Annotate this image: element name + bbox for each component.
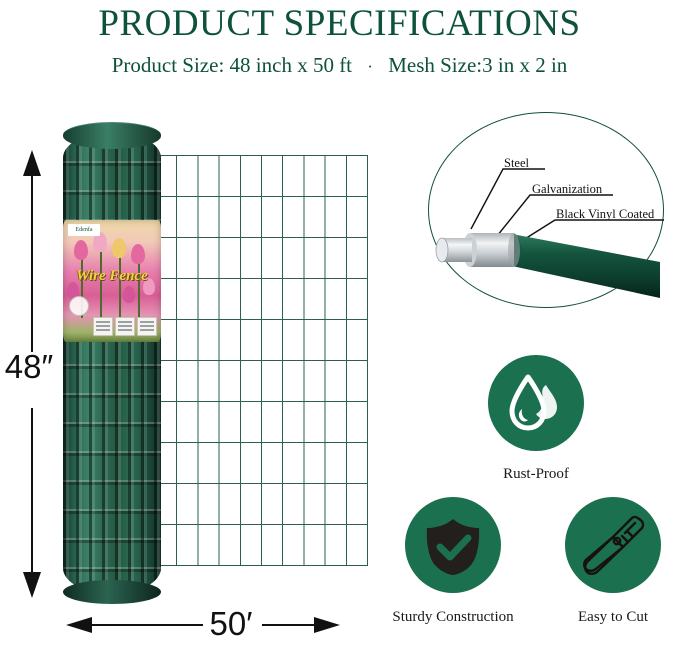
subtitle-separator: ·: [357, 57, 383, 76]
shield-icon: [427, 519, 479, 575]
feature-label-easy-to-cut: Easy to Cut: [543, 609, 679, 626]
brand-logo: Edenfa: [68, 224, 100, 236]
callout-label-galvanization: Galvanization: [532, 182, 602, 197]
feature-badge-easy-to-cut: [565, 497, 661, 593]
roll-bottom-edge: [63, 580, 161, 604]
width-dimension-label: 50′: [196, 605, 266, 643]
product-label: Edenfa Wire Fence: [63, 220, 161, 342]
product-size-label: Product Size: 48 inch x 50 ft: [112, 53, 352, 77]
label-spec-box: [115, 317, 135, 336]
callout-label-vinyl: Black Vinyl Coated: [556, 207, 654, 222]
feature-badge-sturdy-construction: [405, 497, 501, 593]
callout-label-steel: Steel: [504, 156, 529, 171]
page-title: PRODUCT SPECIFICATIONS: [0, 2, 679, 45]
feature-label-rust-proof: Rust-Proof: [466, 466, 606, 483]
fence-roll-image: Edenfa Wire Fence: [55, 120, 170, 598]
galvanization-shadow: [508, 233, 520, 267]
dimension-line: [31, 172, 33, 352]
label-spec-box: [137, 317, 157, 336]
tulip: [131, 244, 145, 264]
dimension-line: [31, 408, 33, 574]
label-spec-box: [93, 317, 113, 336]
width-dimension-arrow: 50′: [66, 612, 340, 638]
water-droplet-highlight-icon: [519, 409, 528, 422]
leader-line-vinyl: [520, 220, 664, 242]
label-badge-icon: [69, 296, 89, 316]
water-droplet-icon: [512, 377, 544, 428]
feature-label-sturdy-construction: Sturdy Construction: [373, 609, 533, 626]
size-subtitle: Product Size: 48 inch x 50 ft · Mesh Siz…: [0, 53, 679, 78]
arrow-right-icon: [314, 617, 340, 633]
tulip: [123, 286, 135, 303]
tulip: [112, 238, 126, 258]
mesh-size-label: Mesh Size:3 in x 2 in: [388, 53, 567, 77]
vinyl-sheath: [512, 234, 660, 298]
dimension-line: [88, 624, 203, 626]
tulip-stem: [119, 252, 121, 318]
feature-badge-rust-proof: [488, 355, 584, 451]
tulip: [74, 240, 88, 260]
roll-vertical-wires: [63, 132, 161, 594]
dimension-line: [262, 624, 318, 626]
product-specifications-infographic: PRODUCT SPECIFICATIONS Product Size: 48 …: [0, 0, 679, 649]
wire-mesh-sheet: [155, 155, 368, 566]
arrow-down-icon: [23, 572, 41, 598]
product-label-title: Wire Fence: [63, 268, 161, 285]
roll-top-edge: [63, 122, 161, 149]
height-dimension-label: 48″: [0, 348, 58, 386]
tulip-stem: [138, 258, 140, 318]
leader-line-steel: [471, 169, 545, 229]
steel-end-cap: [436, 238, 448, 262]
roll-body: [63, 132, 161, 594]
pliers-icon: [584, 517, 643, 574]
wire-construction-callout: Steel Galvanization Black Vinyl Coated: [428, 112, 676, 308]
